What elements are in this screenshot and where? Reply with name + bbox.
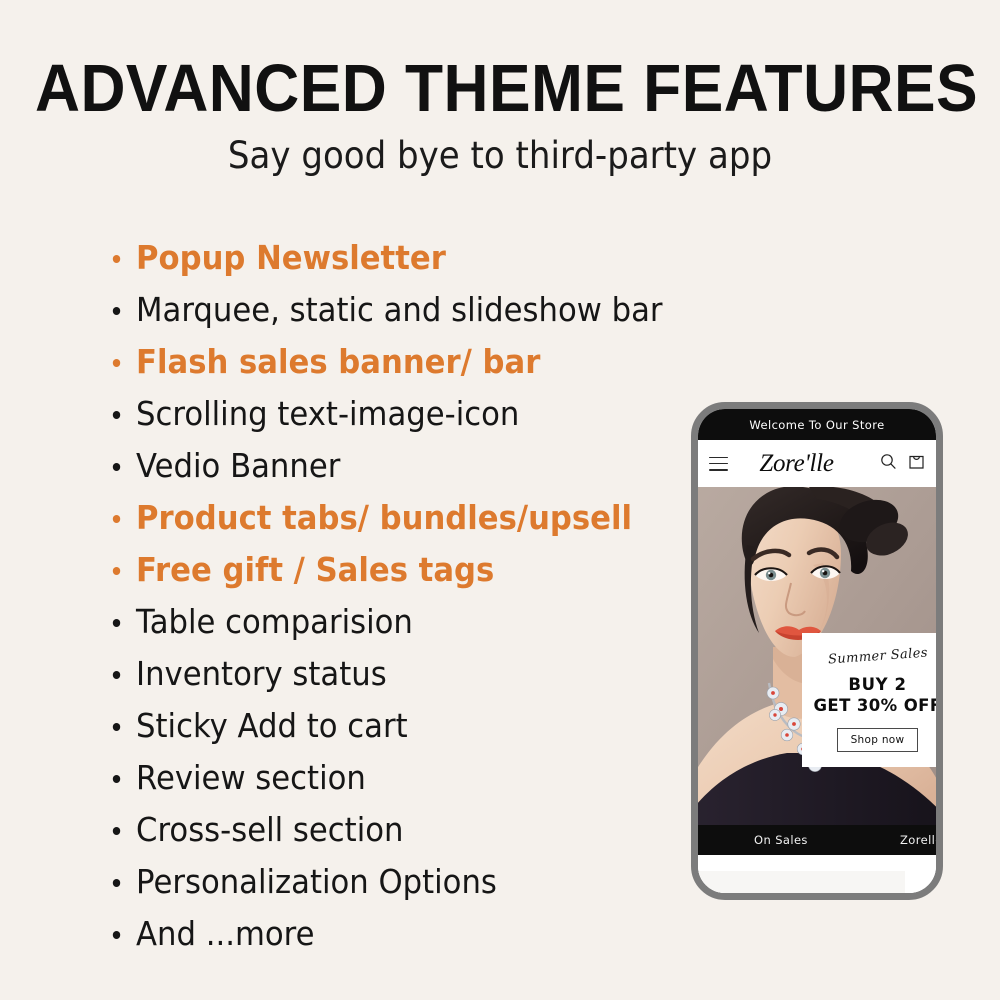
promo-script-text: Summer Sales (827, 645, 928, 667)
bullet-dot-icon (113, 255, 120, 263)
search-icon[interactable] (880, 453, 897, 475)
feature-item-6: Product tabs/ bundles/upsell (110, 492, 659, 544)
bullet-dot-icon (113, 723, 120, 731)
bullet-dot-icon (113, 411, 120, 419)
bullet-dot-icon (113, 567, 120, 575)
hamburger-menu-icon[interactable] (709, 457, 728, 471)
feature-item-9: Inventory status (110, 648, 659, 700)
feature-item-2: Marquee, static and slideshow bar (110, 284, 659, 336)
bullet-dot-icon (113, 307, 120, 315)
marquee-item-1: On Sales (754, 833, 808, 847)
bullet-dot-icon (113, 463, 120, 471)
feature-label: Cross-sell section (136, 810, 403, 849)
marquee-bar: On Sales Zorelle (698, 825, 936, 855)
feature-item-11: Review section (110, 752, 659, 804)
feature-label: Free gift / Sales tags (136, 550, 494, 589)
feature-label: Marquee, static and slideshow bar (136, 290, 662, 329)
bullet-dot-icon (113, 775, 120, 783)
feature-item-5: Vedio Banner (110, 440, 659, 492)
phone-footer-area (698, 855, 936, 893)
marquee-item-2: Zorelle (900, 833, 936, 847)
feature-label: Table comparision (136, 602, 413, 641)
feature-item-10: Sticky Add to cart (110, 700, 659, 752)
feature-item-8: Table comparision (110, 596, 659, 648)
feature-item-14: And ...more (110, 908, 659, 960)
feature-item-13: Personalization Options (110, 856, 659, 908)
promo-headline-line2: GET 30% OFF (813, 695, 936, 716)
feature-label: Vedio Banner (136, 446, 340, 485)
feature-label: Popup Newsletter (136, 238, 446, 277)
feature-item-3: Flash sales banner/ bar (110, 336, 659, 388)
feature-item-12: Cross-sell section (110, 804, 659, 856)
bullet-dot-icon (113, 931, 120, 939)
page-title: ADVANCED THEME FEATURES (35, 52, 965, 126)
bullet-dot-icon (113, 515, 120, 523)
feature-label: Sticky Add to cart (136, 706, 408, 745)
bullet-dot-icon (113, 359, 120, 367)
feature-label: Flash sales banner/ bar (136, 342, 540, 381)
shopping-bag-icon[interactable] (908, 452, 925, 475)
phone-screen: Welcome To Our Store Zore'lle (698, 409, 936, 893)
poster-canvas: ADVANCED THEME FEATURES Say good bye to … (0, 0, 1000, 1000)
promo-headline-line1: BUY 2 (848, 675, 906, 695)
phone-mockup: Welcome To Our Store Zore'lle (691, 402, 943, 900)
feature-label: And ...more (136, 914, 314, 953)
feature-label: Scrolling text-image-icon (136, 394, 519, 433)
hero-product-photo: Summer Sales BUY 2 GET 30% OFF Shop now (698, 487, 936, 825)
feature-label: Product tabs/ bundles/upsell (136, 498, 632, 537)
feature-list: Popup Newsletter Marquee, static and sli… (110, 232, 700, 960)
feature-label: Inventory status (136, 654, 387, 693)
bullet-dot-icon (113, 619, 120, 627)
feature-label: Personalization Options (136, 862, 497, 901)
bullet-dot-icon (113, 827, 120, 835)
announcement-text: Welcome To Our Store (749, 418, 884, 432)
promo-popup: Summer Sales BUY 2 GET 30% OFF Shop now (802, 633, 936, 767)
feature-item-4: Scrolling text-image-icon (110, 388, 659, 440)
page-subtitle: Say good bye to third-party app (40, 133, 960, 179)
footer-shade (698, 871, 905, 893)
bullet-dot-icon (113, 671, 120, 679)
feature-item-1: Popup Newsletter (110, 232, 659, 284)
feature-label: Review section (136, 758, 366, 797)
shop-now-button[interactable]: Shop now (837, 728, 919, 752)
announcement-bar: Welcome To Our Store (698, 409, 936, 440)
feature-item-7: Free gift / Sales tags (110, 544, 659, 596)
store-header: Zore'lle (698, 440, 936, 487)
bullet-dot-icon (113, 879, 120, 887)
store-logo[interactable]: Zore'lle (728, 451, 869, 477)
